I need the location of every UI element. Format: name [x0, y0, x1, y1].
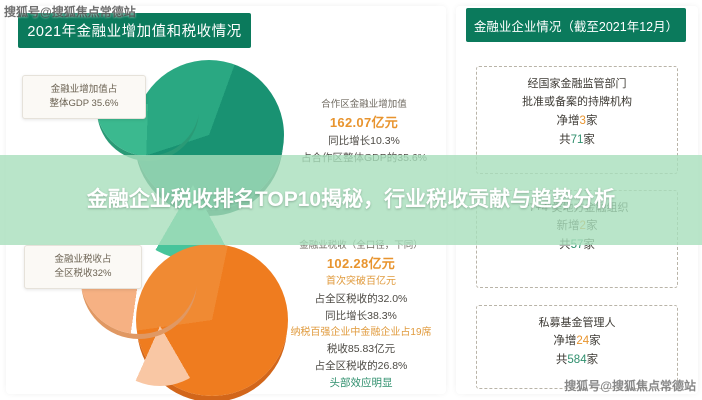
tax-stat-conclusion: 头部效应明显 [270, 375, 452, 392]
licensed-total-prefix: 共 [559, 134, 571, 146]
licensed-increase-prefix: 净增 [557, 115, 580, 127]
private-fund-increase: 净增24家 [481, 332, 673, 351]
private-fund-total: 共584家 [481, 351, 673, 370]
headline-overlay-banner: 金融企业税收排名TOP10揭秘，行业税收贡献与趋势分析 [0, 155, 702, 245]
infographic-canvas: 2021年金融业增加值和税收情况 金融业增加值占 整体GDP 35.6% 金融业… [0, 0, 702, 400]
licensed-total-value: 71 [571, 134, 584, 146]
gdp-callout-box: 金融业增加值占 整体GDP 35.6% [22, 75, 146, 119]
licensed-institutions-increase: 净增3家 [481, 112, 673, 131]
gdp-callout-line1: 金融业增加值占 [33, 83, 135, 97]
private-increase-suffix: 家 [589, 335, 601, 347]
private-increase-prefix: 净增 [553, 335, 576, 347]
tax-callout-box: 金融业税收占 全区税收32% [24, 245, 142, 289]
tax-stats-block: 金融业税收（全口径，下同） 102.28亿元 首次突破百亿元 占全区税收的32.… [270, 238, 452, 392]
gdp-callout-line2: 整体GDP 35.6% [33, 97, 135, 111]
licensed-total-suffix: 家 [583, 134, 595, 146]
tax-stat-share: 占全区税收的32.0% [270, 291, 452, 308]
tax-callout-line1: 金融业税收占 [35, 253, 131, 267]
gdp-stat-value: 162.07亿元 [278, 112, 450, 133]
tax-stat-top100-tax: 税收85.83亿元 [270, 341, 452, 358]
tax-stat-top100: 纳税百强企业中金融企业占19席 [270, 325, 452, 341]
tax-stat-milestone: 首次突破百亿元 [270, 274, 452, 290]
licensed-increase-suffix: 家 [586, 115, 598, 127]
tax-stat-top100-share: 占全区税收的26.8% [270, 358, 452, 375]
right-panel-header: 金融业企业情况（截至2021年12月） [466, 8, 686, 42]
licensed-institutions-line2: 批准或备案的持牌机构 [481, 93, 673, 111]
gdp-stat-label: 合作区金融业增加值 [278, 97, 450, 112]
gdp-stat-growth: 同比增长10.3% [278, 133, 450, 150]
private-total-prefix: 共 [556, 354, 568, 366]
private-total-suffix: 家 [587, 354, 599, 366]
tax-callout-line2: 全区税收32% [35, 267, 131, 281]
headline-text: 金融企业税收排名TOP10揭秘，行业税收贡献与趋势分析 [41, 186, 661, 214]
private-fund-line1: 私募基金管理人 [481, 314, 673, 332]
licensed-institutions-total: 共71家 [481, 131, 673, 150]
tax-stat-value: 102.28亿元 [270, 253, 452, 274]
licensed-institutions-line1: 经国家金融监管部门 [481, 75, 673, 93]
private-total-value: 584 [567, 354, 586, 366]
private-increase-value: 24 [576, 335, 589, 347]
watermark-top-left: 搜狐号@搜狐焦点常德站 [4, 3, 136, 20]
watermark-bottom-right: 搜狐号@搜狐焦点常德站 [564, 377, 696, 394]
tax-stat-growth: 同比增长38.3% [270, 308, 452, 325]
